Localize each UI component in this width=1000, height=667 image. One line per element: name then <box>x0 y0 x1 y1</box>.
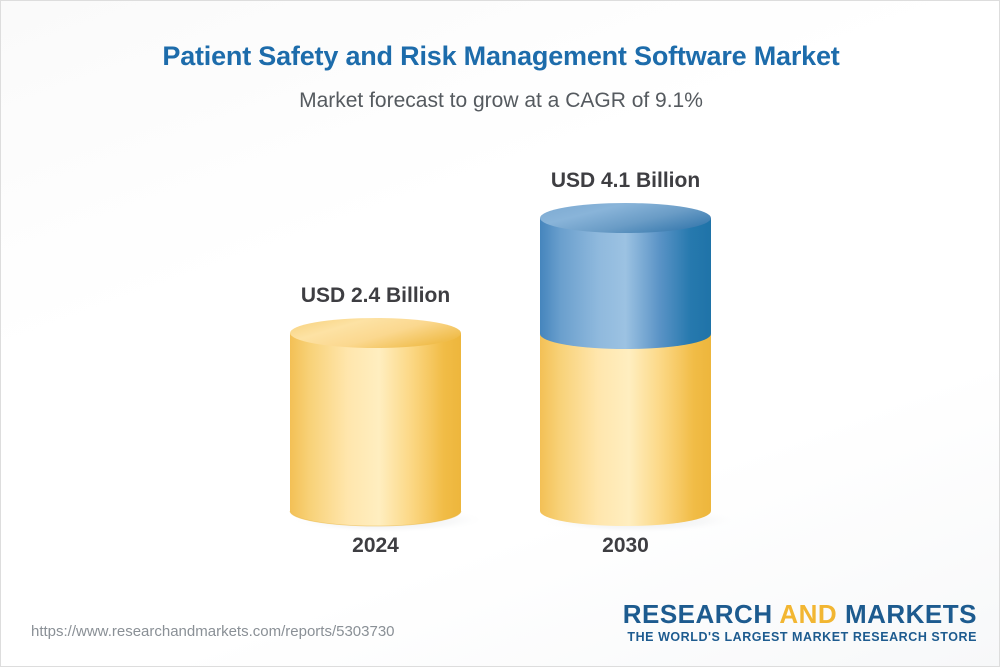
cylinder-2024 <box>270 306 481 536</box>
chart-plot-area: USD 2.4 Billion <box>1 1 1000 601</box>
cylinder-2030 <box>520 191 731 536</box>
value-label-2030: USD 4.1 Billion <box>500 169 751 193</box>
category-label-2030: 2030 <box>500 534 751 558</box>
brand-logo: RESEARCH AND MARKETS THE WORLD'S LARGEST… <box>623 601 977 644</box>
source-url[interactable]: https://www.researchandmarkets.com/repor… <box>31 623 395 640</box>
chart-card: Patient Safety and Risk Management Softw… <box>0 0 1000 667</box>
value-label-2024: USD 2.4 Billion <box>250 284 501 308</box>
brand-word-research: RESEARCH <box>623 599 780 629</box>
brand-word-and: AND <box>779 599 837 629</box>
category-label-2024: 2024 <box>250 534 501 558</box>
brand-tagline: THE WORLD'S LARGEST MARKET RESEARCH STOR… <box>623 630 977 644</box>
brand-word-markets: MARKETS <box>837 599 977 629</box>
brand-logo-wordmark: RESEARCH AND MARKETS <box>623 601 977 628</box>
